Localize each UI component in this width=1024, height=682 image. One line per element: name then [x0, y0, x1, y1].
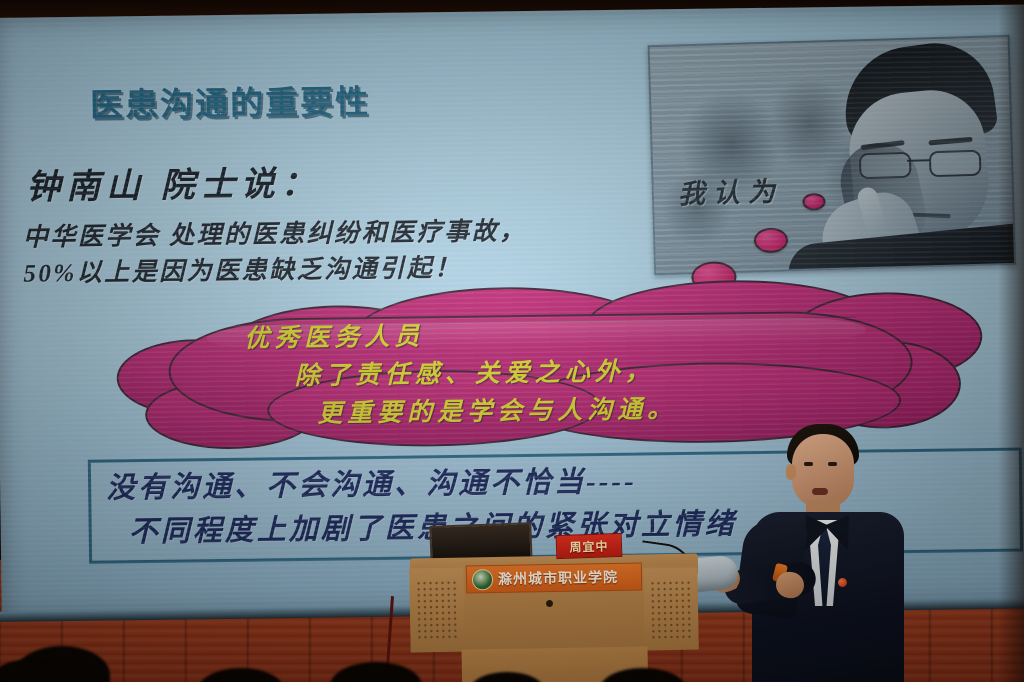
cloud-line-1: 优秀医务人员	[244, 316, 424, 354]
speaker-grille-left	[415, 580, 458, 641]
speaker-grille-right	[649, 580, 692, 641]
glasses-icon	[859, 150, 984, 176]
quote-attribution: 钟南山 院士说：	[26, 156, 321, 209]
photo-caption: 我认为	[677, 169, 783, 211]
lens-left	[859, 152, 912, 179]
portrait-photo: 我认为	[648, 35, 1016, 275]
presenter	[716, 416, 976, 682]
school-emblem-icon	[472, 569, 493, 590]
presenter-mouth	[812, 488, 828, 495]
presenter-head	[792, 434, 854, 508]
lectern-banner-text: 滁州城市职业学院	[498, 567, 618, 589]
name-card-text: 周宜中	[569, 537, 609, 555]
slide-title: 医患沟通的重要性	[90, 75, 371, 127]
photo-subject	[796, 42, 1016, 275]
cloud-line-3: 更重要的是学会与人沟通。	[317, 389, 677, 430]
lectern: 滁州城市职业学院 周宜中	[404, 524, 704, 682]
presenter-eye-left	[804, 462, 813, 466]
right-wall-shadow	[998, 0, 1024, 682]
presenter-lapel-pin	[838, 578, 847, 587]
glasses-bridge	[907, 159, 929, 162]
conclusion-line-1: 没有沟通、不会沟通、沟通不恰当----	[106, 458, 637, 507]
lectern-banner: 滁州城市职业学院	[466, 562, 642, 593]
presenter-eye-right	[828, 462, 837, 466]
quote-line-2: 50%以上是因为医患缺乏沟通引起！	[23, 248, 462, 290]
name-card: 周宜中	[556, 533, 623, 559]
lens-right	[929, 150, 982, 177]
lectern-latch	[546, 600, 553, 607]
presenter-ear	[786, 464, 796, 480]
lecture-photo-scene: 医患沟通的重要性 钟南山 院士说： 中华医学会 处理的医患纠纷和医疗事故， 50…	[0, 0, 1024, 682]
cloud-line-2: 除了责任感、关爱之心外，	[294, 351, 654, 392]
